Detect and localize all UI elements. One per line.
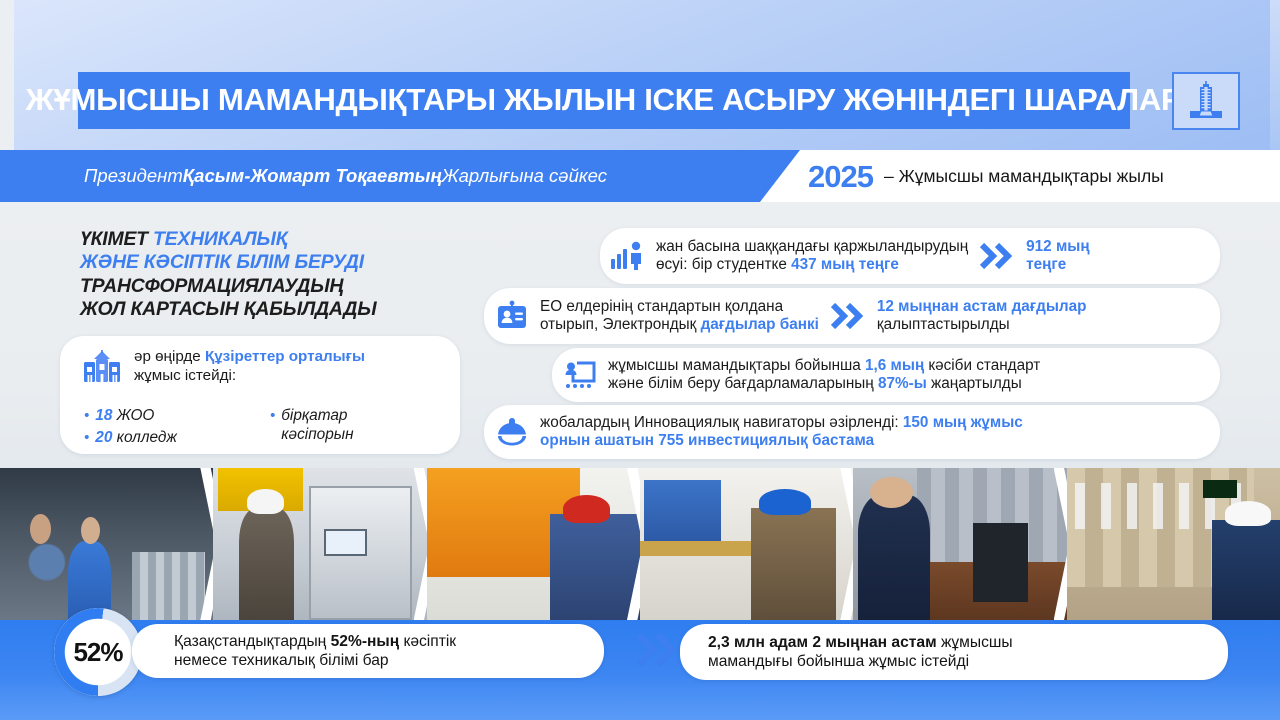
bc2-plain: жұмысшы: [937, 634, 1013, 651]
decree-reference: Президент Қасым-Жомарт Тоқаевтың Жарлығы…: [84, 150, 607, 202]
stat-card-skills-bank: ЕО елдерінің стандартын қолдана отырып, …: [484, 288, 1220, 344]
list-item: • 20 колледж: [84, 428, 244, 448]
bottom-card-education: Қазақстандықтардың 52%-ның кәсіптік неме…: [132, 624, 604, 678]
bc1-a: Қазақстандықтардың: [174, 633, 331, 650]
stat-card-navigator: жобалардың Инновациялық навигаторы әзірл…: [484, 405, 1220, 459]
decree-suffix: Жарлығына сәйкес: [442, 165, 607, 187]
photo-strip: [0, 468, 1280, 620]
skills-result-bold: 12 мыңнан астам дағдылар: [877, 298, 1087, 315]
list-item: • бірқатар кәсіпорын: [270, 406, 430, 445]
navigator-text: жобалардың Инновациялық навигаторы әзірл…: [540, 414, 1023, 451]
president-name: Қасым-Жомарт Тоқаевтың: [183, 165, 442, 187]
bc1-b: кәсіптік: [399, 633, 456, 650]
bullet-1-label: колледж: [117, 429, 177, 446]
bullet-dot-icon: •: [270, 406, 275, 426]
government-building-icon: [1187, 81, 1225, 121]
list-item: • 18 ЖОО: [84, 406, 244, 426]
id-badge-icon: [496, 300, 528, 332]
competence-center-header: әр өңірде Құзіреттер орталығы жұмыс істе…: [82, 348, 384, 385]
lead-statement: ҮКІМЕТ ТЕХНИКАЛЫҚ ЖӘНЕ КӘСІПТІК БІЛІМ БЕ…: [80, 228, 480, 321]
double-chevron-right-icon: [636, 632, 678, 668]
stat-icon-wrap: [552, 361, 608, 389]
bullet-dot-icon: •: [84, 406, 89, 426]
double-chevron-right-icon: [980, 243, 1014, 269]
skills-line2-bold: дағдылар банкі: [701, 316, 819, 333]
cc-text-b: жұмыс істейді:: [134, 367, 236, 384]
stat-card-standards: жұмысшы мамандықтары бойынша 1,6 мың кәс…: [552, 348, 1220, 402]
percent-gauge: 52%: [54, 608, 142, 696]
skills-bank-text: ЕО елдерінің стандартын қолдана отырып, …: [540, 298, 819, 335]
bullet-dot-icon: •: [84, 428, 89, 448]
funding-line2-bold: 437 мың теңге: [791, 256, 899, 273]
funding-result: 912 мың теңге: [1026, 238, 1089, 275]
bc1-line2: немесе техникалық білімі бар: [174, 651, 456, 670]
funding-line1: жан басына шаққандағы қаржыландырудың: [656, 238, 968, 255]
photo-worker-radio-control-panel: [213, 468, 426, 620]
skills-bank-result: 12 мыңнан астам дағдылар қалыптастырылды: [877, 298, 1087, 335]
stat-card-body: жұмысшы мамандықтары бойынша 1,6 мың кәс…: [608, 357, 1220, 394]
person-bar-chart-icon: [611, 241, 645, 271]
lead-line2-highlight: ЖӘНЕ КӘСІПТІК БІЛІМ БЕРУДІ: [80, 251, 364, 273]
photo-operator-white-helmet-control-board: [1067, 468, 1280, 620]
photo-woman-operator-control-room: [853, 468, 1066, 620]
bullet-column-right: • бірқатар кәсіпорын: [270, 406, 430, 448]
stat-card-body: ЕО елдерінің стандартын қолдана отырып, …: [540, 298, 1220, 335]
standards-l2b: 87%-ы: [878, 375, 927, 392]
gauge-value: 52%: [73, 637, 122, 668]
photo-worker-red-helmet-orange-banner: [427, 468, 640, 620]
stat-icon-wrap: [484, 300, 540, 332]
navigator-l2-bold: орнын ашатын 755 инвестициялық бастама: [540, 432, 874, 449]
skills-line2-plain: отырып, Электрондық: [540, 316, 701, 333]
standards-l2a: және білім беру бағдарламаларының: [608, 375, 878, 392]
bullet-column-left: • 18 ЖОО • 20 колледж: [84, 406, 244, 448]
subtitle-bar: Президент Қасым-Жомарт Тоқаевтың Жарлығы…: [0, 150, 1280, 202]
funding-result-line1: 912 мың: [1026, 238, 1089, 255]
competence-center-text: әр өңірде Құзіреттер орталығы жұмыс істе…: [134, 348, 384, 385]
bullet-1-value: 20: [95, 429, 112, 446]
standards-l1a: жұмысшы мамандықтары бойынша: [608, 357, 865, 374]
funding-line2-plain: өсуі: бір студентке: [656, 256, 791, 273]
government-logo: [1172, 72, 1240, 130]
standards-l2c: жаңартылды: [927, 375, 1022, 392]
bottom-card2-text: 2,3 млн адам 2 мыңнан астам жұмысшы мама…: [680, 633, 1013, 671]
photo-worker-blue-helmet-equipment: [640, 468, 853, 620]
standards-text: жұмысшы мамандықтары бойынша 1,6 мың кәс…: [608, 357, 1040, 394]
navigator-l1-bold: 150 мың жұмыс: [903, 414, 1023, 431]
lead-line1-highlight: ТЕХНИКАЛЫҚ: [153, 228, 287, 250]
standards-l1b: 1,6 мың: [865, 357, 924, 374]
stat-card-body: жобалардың Инновациялық навигаторы әзірл…: [540, 414, 1220, 451]
decree-prefix: Президент: [84, 165, 183, 187]
funding-result-line2: теңге: [1026, 256, 1066, 273]
page-title: ЖҰМЫСШЫ МАМАНДЫҚТАРЫ ЖЫЛЫН ІСКЕ АСЫРУ ЖӨ…: [26, 83, 1182, 118]
bullet-0-value: 18: [95, 407, 112, 424]
infographic-page: ЖҰМЫСШЫ МАМАНДЫҚТАРЫ ЖЫЛЫН ІСКЕ АСЫРУ ЖӨ…: [0, 0, 1280, 720]
cc-text-a: әр өңірде: [134, 348, 205, 365]
photo-factory-workers-bearings: [0, 468, 213, 620]
double-chevron-right-icon: [831, 303, 865, 329]
bc2-bold: 2,3 млн адам 2 мыңнан астам: [708, 634, 937, 651]
bullet-0-label: ЖОО: [117, 407, 155, 424]
year-block: 2025 – Жұмысшы мамандықтары жылы: [808, 150, 1164, 202]
competence-center-bullets: • 18 ЖОО • 20 колледж • бірқатар кәсіпор…: [84, 406, 454, 448]
institution-building-icon: [82, 350, 122, 384]
stat-icon-wrap: [484, 417, 540, 447]
cc-text-bold: Құзіреттер орталығы: [205, 348, 365, 365]
standards-l1c: кәсіби стандарт: [924, 357, 1040, 374]
bottom-card1-text: Қазақстандықтардың 52%-ның кәсіптік неме…: [132, 632, 456, 670]
bottom-card-employment: 2,3 млн адам 2 мыңнан астам жұмысшы мама…: [680, 624, 1228, 680]
stat-icon-wrap: [600, 241, 656, 271]
lead-line1-plain: ҮКІМЕТ: [80, 228, 153, 250]
year-number: 2025: [808, 161, 873, 192]
lead-line3: ТРАНСФОРМАЦИЯЛАУДЫҢ: [80, 275, 343, 297]
year-caption: – Жұмысшы мамандықтары жылы: [884, 166, 1164, 187]
lead-line4: ЖОЛ КАРТАСЫН ҚАБЫЛДАДЫ: [80, 298, 376, 320]
stat-card-body: жан басына шаққандағы қаржыландырудың өс…: [656, 238, 1220, 275]
skills-result-plain: қалыптастырылды: [877, 316, 1010, 333]
skills-line1: ЕО елдерінің стандартын қолдана: [540, 298, 783, 315]
navigator-l1-plain: жобалардың Инновациялық навигаторы әзірл…: [540, 414, 903, 431]
bc2-line2: мамандығы бойынша жұмыс істейді: [708, 652, 1013, 671]
funding-text: жан басына шаққандағы қаржыландырудың өс…: [656, 238, 968, 275]
presentation-board-icon: [564, 361, 596, 389]
competence-center-card: әр өңірде Құзіреттер орталығы жұмыс істе…: [60, 336, 460, 454]
bullet-2-line2: кәсіпорын: [281, 426, 353, 443]
bullet-2-line1: бірқатар: [281, 407, 347, 424]
bc1-bold: 52%-ның: [331, 633, 400, 650]
hard-hat-icon: [495, 417, 529, 447]
stat-card-funding: жан басына шаққандағы қаржыландырудың өс…: [600, 228, 1220, 284]
main-title-band: ЖҰМЫСШЫ МАМАНДЫҚТАРЫ ЖЫЛЫН ІСКЕ АСЫРУ ЖӨ…: [78, 72, 1130, 129]
